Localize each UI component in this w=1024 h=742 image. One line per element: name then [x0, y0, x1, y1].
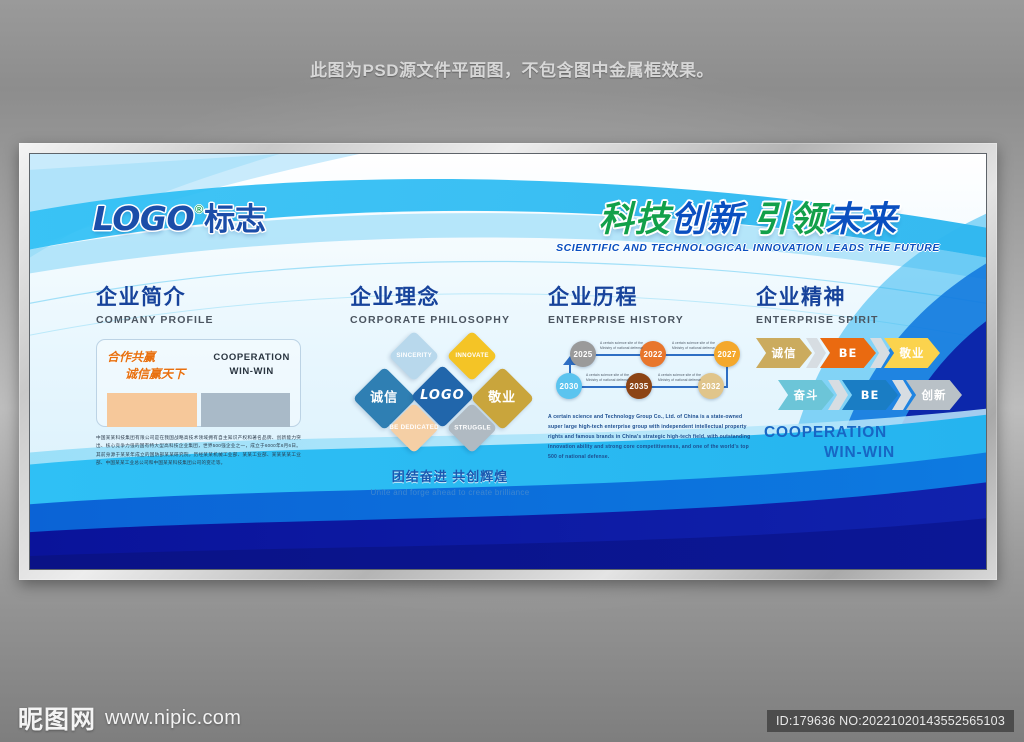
photo-placeholder-2 [201, 393, 291, 427]
spirit-chevrons: 诚信 BE 敬业 奋斗 BE 创新 [756, 338, 951, 416]
philosophy-foot-en: Unite and forge ahead to create brillian… [350, 488, 550, 497]
logo: LOGO ® 标志 [93, 202, 266, 235]
diamond-chengxin-label: 诚信 [370, 391, 398, 406]
timeline-caption-4: A certain science site of the Ministry o… [658, 373, 710, 384]
logo-text-cn: 标志 [204, 204, 266, 235]
company-profile-card: 合作共赢 诚信赢天下 COOPERATION WIN-WIN [96, 339, 301, 427]
diamond-logo-label: LOGO [420, 389, 465, 404]
diamond-innovate-label: INNOVATE [455, 352, 488, 359]
headline-part-1: 科技 [599, 200, 671, 239]
chevron-chuangxin-label: 创新 [922, 387, 947, 403]
headline-main: 科技创新 引领未来 [556, 202, 940, 237]
metal-frame: LOGO ® 标志 科技创新 引领未来 SCIENTIFIC AND TECHN… [19, 143, 997, 580]
headline-part-4: 未来 [825, 200, 897, 239]
diamond-jingye-label: 敬业 [488, 391, 516, 406]
spirit-coop-line1: COOPERATION [756, 424, 951, 442]
section-enterprise-history: 企业历程 ENTERPRISE HISTORY 2025 2022 2027 [548, 287, 753, 463]
timeline-caption-3: A certain science site of the Ministry o… [586, 373, 638, 384]
chevron-jingye: 敬业 [884, 338, 940, 368]
company-coop-line2: WIN-WIN [213, 365, 290, 379]
chevron-fendou-label: 奋斗 [794, 387, 819, 403]
diamond-struggle-label: STRUGGLE [454, 424, 491, 431]
chevron-chuangxin: 创新 [906, 380, 962, 410]
diamond-innovate: INNOVATE [447, 331, 498, 382]
headline: 科技创新 引领未来 SCIENTIFIC AND TECHNOLOGICAL I… [556, 202, 940, 254]
preview-notice: 此图为PSD源文件平面图，不包含图中金属框效果。 [0, 56, 1024, 81]
chevron-chengxin: 诚信 [756, 338, 812, 368]
chevron-be-top: BE [820, 338, 876, 368]
company-slogan-line1: 合作共赢 [107, 350, 155, 364]
asset-id-badge: ID:179636 NO:20221020143552565103 [767, 710, 1014, 732]
company-coop-en: COOPERATION WIN-WIN [213, 351, 290, 380]
chevron-chengxin-label: 诚信 [772, 345, 797, 361]
chevron-jingye-label: 敬业 [900, 345, 925, 361]
company-coop-line1: COOPERATION [213, 351, 290, 365]
section-corporate-philosophy: 企业理念 CORPORATE PHILOSOPHY SINCERITY INNO… [350, 287, 550, 497]
spirit-footer: COOPERATION WIN-WIN [756, 424, 951, 462]
history-timeline: 2025 2022 2027 2030 2035 2032 A certain … [548, 334, 753, 404]
photo-placeholder-1 [107, 393, 197, 427]
company-profile-title-en: COMPANY PROFILE [96, 314, 301, 326]
philosophy-footer: 团结奋进 共创辉煌 Unite and forge ahead to creat… [350, 466, 550, 497]
chevron-be-bottom: BE [842, 380, 898, 410]
company-profile-body: 中国某某科技集团有限公司是在我国战略高技术领域拥有自主知识产权和著名品牌、创新能… [96, 434, 301, 468]
spirit-coop-line2: WIN-WIN [756, 444, 951, 462]
spirit-title-cn: 企业精神 [756, 287, 951, 308]
diamond-sincerity-label: SINCERITY [396, 352, 432, 359]
timeline-caption-1: A certain science site of the Ministry o… [600, 341, 652, 352]
watermark-brand: 昵图网 [18, 700, 96, 736]
philosophy-title-en: CORPORATE PHILOSOPHY [350, 314, 550, 326]
timeline-caption-2: A certain science site of the Ministry o… [672, 341, 724, 352]
headline-subtitle: SCIENTIFIC AND TECHNOLOGICAL INNOVATION … [556, 242, 940, 254]
section-company-profile: 企业简介 COMPANY PROFILE 合作共赢 诚信赢天下 COOPERAT… [96, 287, 301, 468]
chevron-be-bottom-label: BE [861, 388, 880, 402]
company-profile-title-cn: 企业简介 [96, 287, 301, 308]
photo-placeholders [107, 393, 290, 427]
section-enterprise-spirit: 企业精神 ENTERPRISE SPIRIT 诚信 BE 敬业 奋斗 BE 创新 [756, 287, 951, 462]
philosophy-foot-cn: 团结奋进 共创辉煌 [350, 466, 550, 485]
site-watermark: 昵图网 www.nipic.com [18, 700, 241, 736]
philosophy-diamond-cluster: SINCERITY INNOVATE 诚信 LOGO 敬业 BE DEDICAT… [350, 336, 550, 448]
timeline-node-2030: 2030 [556, 373, 582, 399]
history-title-cn: 企业历程 [548, 287, 753, 308]
timeline-node-2025: 2025 [570, 341, 596, 367]
history-body: A certain science and Technology Group C… [548, 413, 753, 463]
headline-part-3: 引领 [753, 200, 825, 239]
watermark-url: www.nipic.com [105, 707, 241, 730]
chevron-fendou: 奋斗 [778, 380, 834, 410]
logo-text-en: LOGO [93, 202, 194, 235]
timeline-node-2030-label: 2030 [560, 382, 579, 391]
headline-part-2: 创新 [671, 200, 743, 239]
spirit-title-en: ENTERPRISE SPIRIT [756, 314, 951, 326]
registered-mark-icon: ® [195, 204, 203, 216]
timeline-node-2025-label: 2025 [574, 350, 593, 359]
board-canvas: LOGO ® 标志 科技创新 引领未来 SCIENTIFIC AND TECHN… [29, 153, 987, 570]
board-content: LOGO ® 标志 科技创新 引领未来 SCIENTIFIC AND TECHN… [30, 154, 986, 569]
history-title-en: ENTERPRISE HISTORY [548, 314, 753, 326]
chevron-be-top-label: BE [839, 346, 858, 360]
philosophy-title-cn: 企业理念 [350, 287, 550, 308]
diamond-be-dedicated-label: BE DEDICATED [389, 424, 439, 431]
